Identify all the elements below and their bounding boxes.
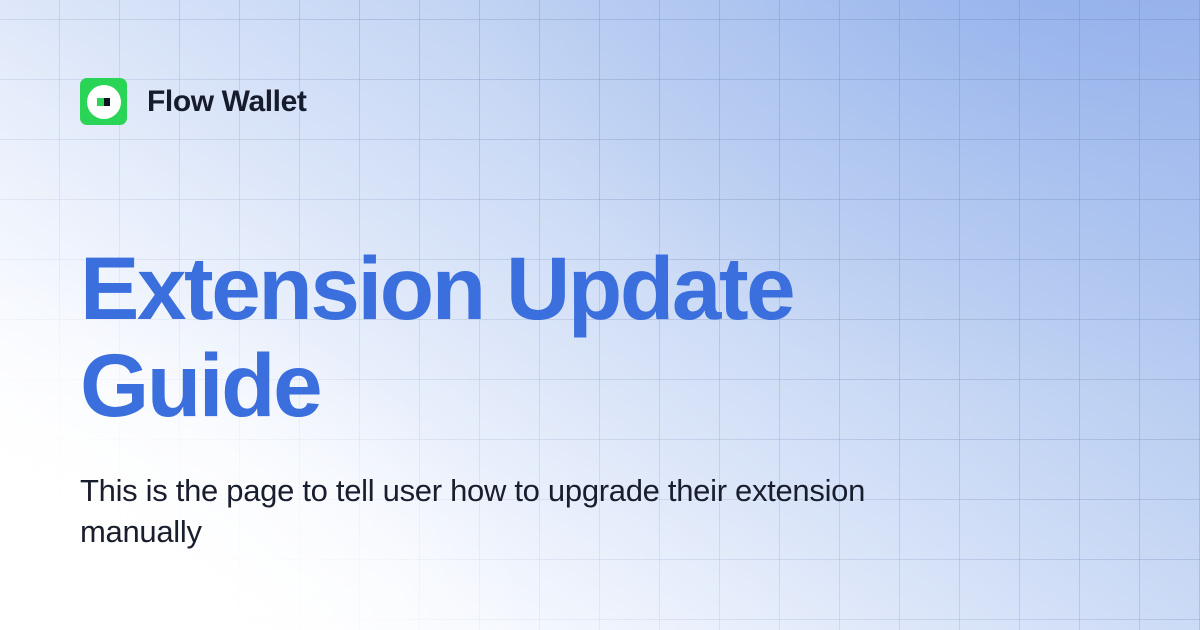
brand-name-label: Flow Wallet	[147, 87, 307, 117]
page-title: Extension Update Guide	[80, 240, 960, 434]
logo-inner-bar-shape	[97, 98, 110, 106]
logo-disc-shape	[87, 85, 121, 119]
page-subtitle: This is the page to tell user how to upg…	[80, 470, 870, 552]
banner-content: Flow Wallet Extension Update Guide This …	[0, 0, 1200, 630]
logo-bar-dark-half	[104, 98, 111, 106]
flow-wallet-logo-icon	[80, 78, 127, 125]
og-banner: Flow Wallet Extension Update Guide This …	[0, 0, 1200, 630]
brand-lockup: Flow Wallet	[80, 78, 307, 125]
